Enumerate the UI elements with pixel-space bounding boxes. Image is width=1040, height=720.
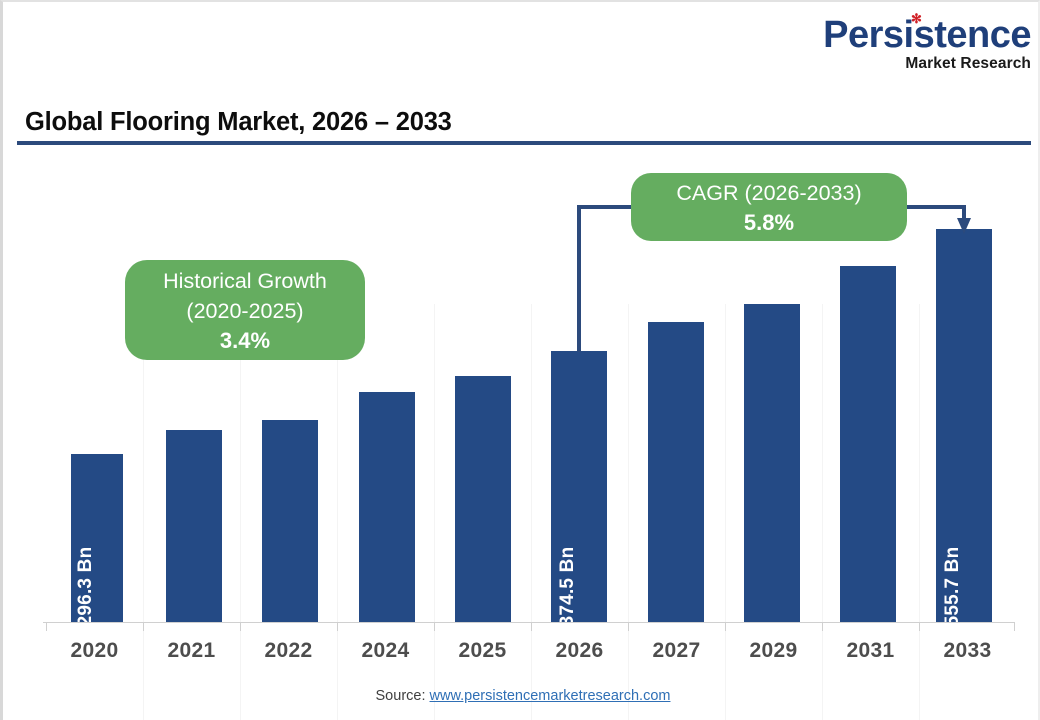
- historical-growth-value: 3.4%: [220, 326, 270, 355]
- bar-2029[interactable]: [744, 304, 800, 622]
- bar-2024[interactable]: [359, 392, 415, 622]
- x-axis-label-2033: 2033: [919, 639, 1016, 663]
- title-divider: [17, 141, 1031, 145]
- x-axis-label-2020: 2020: [46, 639, 143, 663]
- historical-growth-line1: Historical Growth: [163, 266, 327, 296]
- bar-2025[interactable]: [455, 376, 511, 622]
- cagr-callout: CAGR (2026-2033) 5.8%: [631, 173, 907, 241]
- x-axis-label-2027: 2027: [628, 639, 725, 663]
- company-logo: Persistence ✻ Market Research: [815, 16, 1031, 76]
- x-axis-label-2022: 2022: [240, 639, 337, 663]
- axis-tick: [240, 622, 241, 631]
- cagr-line1: CAGR (2026-2033): [676, 178, 861, 208]
- bar-2020[interactable]: US$ 296.3 Bn: [71, 454, 123, 622]
- source-link[interactable]: www.persistencemarketresearch.com: [430, 688, 671, 704]
- axis-tick: [434, 622, 435, 631]
- axis-tick: [46, 622, 47, 631]
- logo-wordmark: Persistence ✻: [815, 16, 1031, 54]
- historical-growth-callout: Historical Growth (2020-2025) 3.4%: [125, 260, 365, 360]
- source-prefix: Source:: [376, 688, 430, 704]
- bar-2022[interactable]: [262, 420, 318, 622]
- historical-growth-line2: (2020-2025): [186, 296, 303, 326]
- x-axis-label-2025: 2025: [434, 639, 531, 663]
- chart-page: Persistence ✻ Market Research Global Flo…: [0, 0, 1040, 720]
- x-axis-label-2021: 2021: [143, 639, 240, 663]
- x-axis-label-2024: 2024: [337, 639, 434, 663]
- page-title: Global Flooring Market, 2026 – 2033: [25, 108, 452, 137]
- bar-2026[interactable]: US$ 374.5 Bn: [551, 351, 607, 622]
- bar-2027[interactable]: [648, 322, 704, 622]
- axis-tick: [628, 622, 629, 631]
- axis-tick: [822, 622, 823, 631]
- bar-2033[interactable]: US$ 555.7 Bn: [936, 229, 992, 622]
- cagr-value: 5.8%: [744, 208, 794, 237]
- axis-tick: [143, 622, 144, 631]
- axis-tick: [1014, 622, 1015, 631]
- source-note: Source: www.persistencemarketresearch.co…: [3, 688, 1040, 704]
- axis-tick: [337, 622, 338, 631]
- x-axis-label-2029: 2029: [725, 639, 822, 663]
- axis-tick: [531, 622, 532, 631]
- axis-tick: [725, 622, 726, 631]
- x-axis-label-2026: 2026: [531, 639, 628, 663]
- x-axis-label-2031: 2031: [822, 639, 919, 663]
- x-axis-line: [43, 622, 1015, 623]
- bar-2031[interactable]: [840, 266, 896, 622]
- logo-wordmark-text: Persistence: [823, 14, 1031, 56]
- bar-2021[interactable]: [166, 430, 222, 622]
- axis-tick: [919, 622, 920, 631]
- logo-tagline: Market Research: [815, 55, 1031, 73]
- asterisk-icon: ✻: [911, 14, 920, 23]
